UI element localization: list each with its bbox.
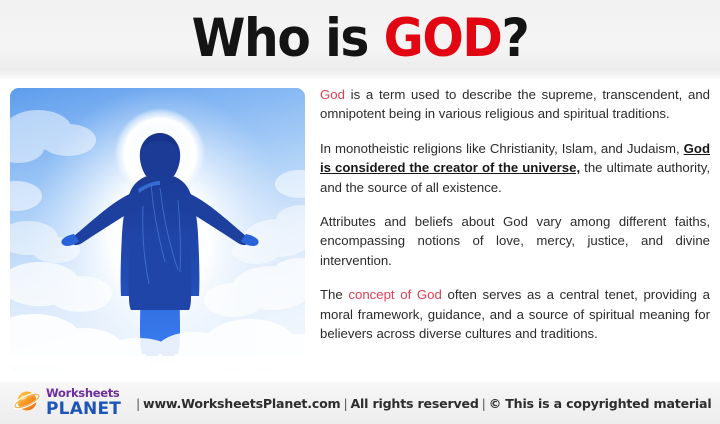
planet-icon-svg (13, 388, 43, 414)
footer-separator-1: | (133, 396, 143, 411)
logo-line-planet: PLANET (46, 401, 121, 418)
page-header: Who is GOD? (0, 0, 720, 79)
p4-seg-0: The (320, 287, 348, 302)
title-highlight: GOD (384, 8, 502, 69)
footer-copyright: © This is a copyrighted material (489, 396, 712, 411)
footer-rights: All rights reserved (351, 396, 479, 411)
page-footer: Worksheets PLANET |www.WorksheetsPlanet.… (0, 382, 720, 424)
divine-figure-illustration-svg (10, 88, 305, 373)
planet-icon (13, 388, 43, 419)
title-prefix: Who is (192, 8, 384, 69)
p4-seg-1-highlight: concept of God (348, 287, 441, 302)
paragraph-3: Attributes and beliefs about God vary am… (320, 212, 710, 270)
p2-seg-0: In monotheistic religions like Christian… (320, 141, 684, 156)
page-body: God is a term used to describe the supre… (0, 79, 720, 382)
paragraph-1: God is a term used to describe the supre… (320, 85, 710, 124)
footer-separator-3: | (479, 396, 489, 411)
footer-credit-line: |www.WorksheetsPlanet.com|All rights res… (133, 396, 711, 411)
p1-seg-0: God (320, 87, 345, 102)
logo-wordmark: Worksheets PLANET (46, 388, 121, 418)
paragraph-4: The concept of God often serves as a cen… (320, 285, 710, 343)
p3-seg-0: Attributes and beliefs about God vary am… (320, 214, 710, 268)
footer-separator-2: | (340, 396, 350, 411)
illustration-divine-figure-in-clouds (10, 88, 305, 373)
article-text-column: God is a term used to describe the supre… (320, 85, 710, 343)
worksheets-planet-logo[interactable]: Worksheets PLANET (13, 388, 123, 419)
footer-website[interactable]: www.WorksheetsPlanet.com (143, 396, 340, 411)
p1-seg-1: is a term used to describe the supreme, … (320, 87, 710, 121)
worksheet-page: Who is GOD? (0, 0, 720, 424)
title-suffix: ? (501, 8, 528, 69)
page-title: Who is GOD? (192, 12, 529, 65)
paragraph-2: In monotheistic religions like Christian… (320, 139, 710, 197)
